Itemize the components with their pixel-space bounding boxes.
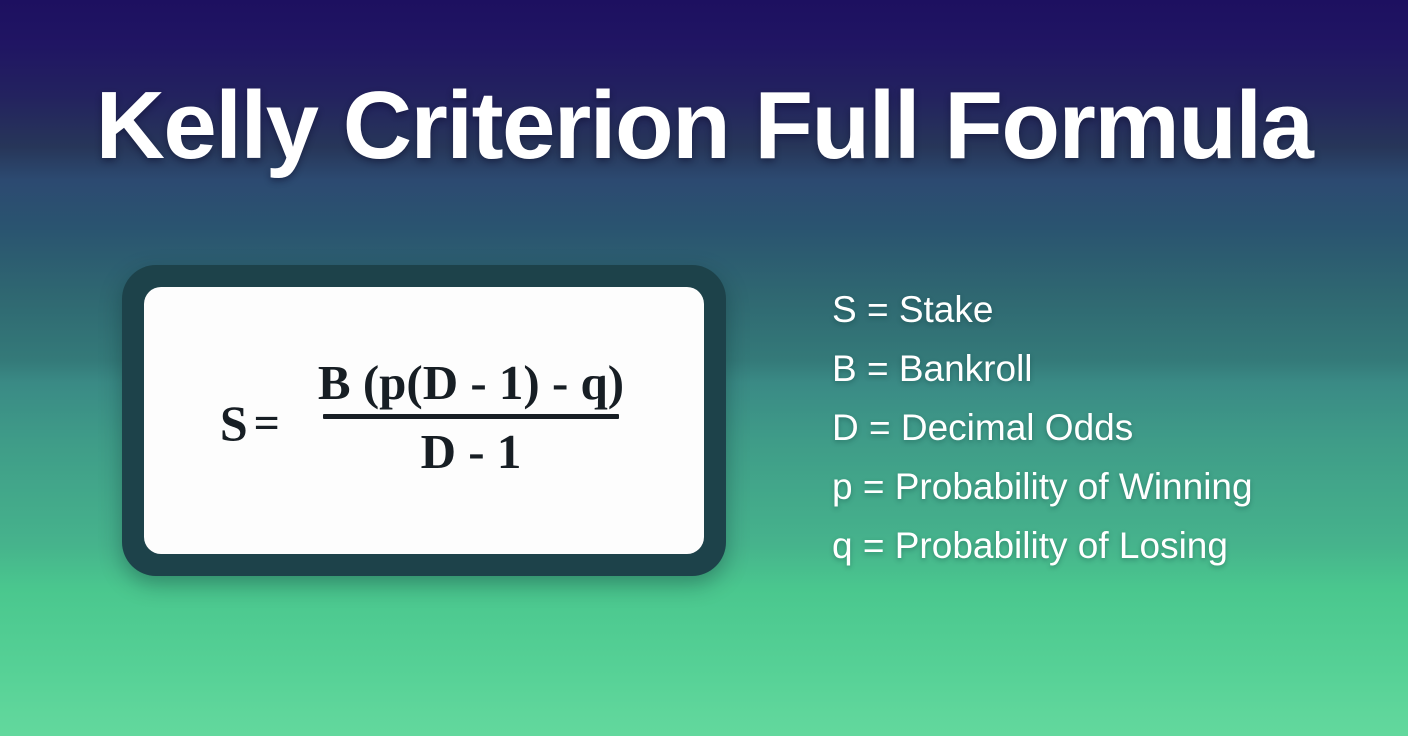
formula-fraction: B (p(D - 1) - q) D - 1 xyxy=(314,357,628,480)
formula-card: S = B (p(D - 1) - q) D - 1 xyxy=(122,265,726,576)
page-title: Kelly Criterion Full Formula xyxy=(0,78,1408,174)
infographic-canvas: Kelly Criterion Full Formula S = B (p(D … xyxy=(0,0,1408,736)
legend-item-d-text: D = Decimal Odds xyxy=(832,407,1133,448)
formula-lhs: S xyxy=(220,398,248,448)
legend-item-q-text: q = Probability of Losing xyxy=(832,525,1228,566)
legend-item-d: D = Decimal Odds xyxy=(832,398,1332,457)
formula-equals-sign: = xyxy=(254,400,280,446)
legend-item-b: B = Bankroll xyxy=(832,339,1332,398)
formula-numerator: B (p(D - 1) - q) xyxy=(314,357,628,414)
legend-item-s-text: S = Stake xyxy=(832,289,993,330)
legend-item-p-text: p = Probability of Winning xyxy=(832,466,1253,507)
legend-item-p: p = Probability of Winning xyxy=(832,457,1332,516)
legend-list: S = Stake B = Bankroll D = Decimal Odds … xyxy=(832,280,1332,575)
legend-item-q: q = Probability of Losing xyxy=(832,516,1332,575)
formula-denominator: D - 1 xyxy=(421,419,522,480)
kelly-formula: S = B (p(D - 1) - q) D - 1 xyxy=(144,287,704,554)
legend-item-s: S = Stake xyxy=(832,280,1332,339)
formula-card-inner: S = B (p(D - 1) - q) D - 1 xyxy=(144,287,704,554)
legend-item-b-text: B = Bankroll xyxy=(832,348,1033,389)
